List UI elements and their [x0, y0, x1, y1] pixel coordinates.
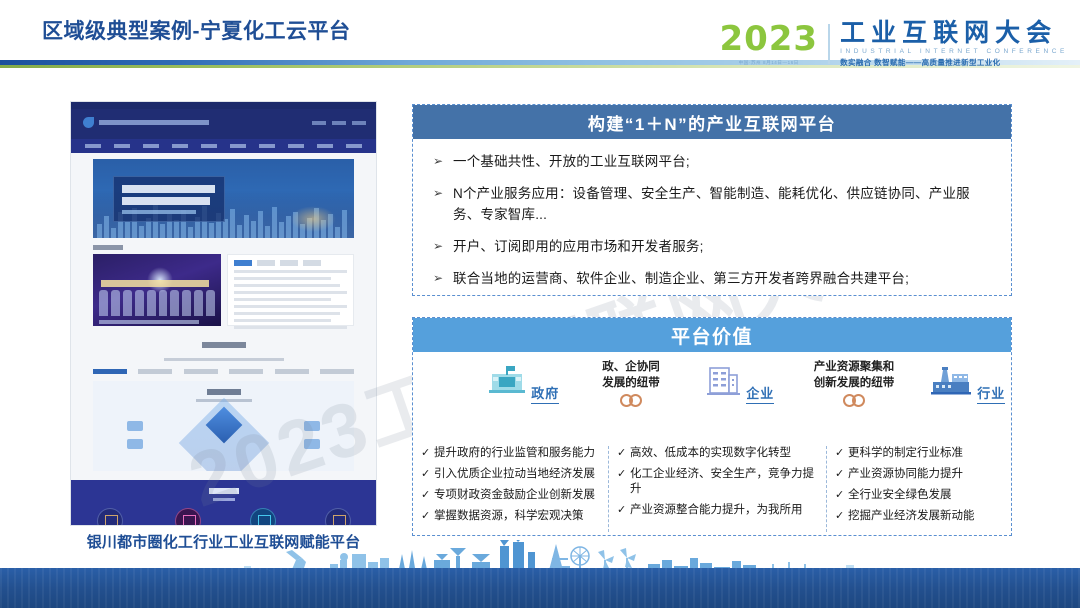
logo-slogan: 数实融合 数智赋能——高质量推进新型工业化 — [840, 57, 1068, 68]
bridge-gov-enterprise: 政、企协同 发展的纽带 — [571, 360, 691, 407]
link-icon — [571, 394, 691, 407]
benefit-text: 产业资源整合能力提升，为我所用 — [630, 503, 803, 518]
actor-name: 政府 — [531, 383, 559, 404]
bridge-line1: 政、企协同 — [571, 360, 691, 376]
list-item: ✓ 产业资源协同能力提升 — [835, 467, 1003, 482]
stat-item: 308600+ 设备上云数 — [96, 508, 126, 526]
benefit-text: 全行业安全绿色发展 — [848, 488, 952, 503]
footer-band — [0, 540, 1080, 608]
site-logo-text — [99, 120, 209, 125]
site-menu — [71, 139, 376, 153]
logo-text-block: 工业互联网大会 INDUSTRIAL INTERNET CONFERENCE 数… — [840, 20, 1068, 68]
check-icon: ✓ — [617, 446, 630, 460]
actor-industry: 行业 — [921, 364, 1013, 404]
value-actors-row: 政府 政、企协同 发展的纽带 — [413, 360, 1011, 426]
actor-name: 行业 — [977, 383, 1005, 404]
check-icon: ✓ — [617, 503, 630, 517]
stats-row: 308600+ 设备上云数 10056+ 企业数量 1570+ 上云企业 236… — [71, 508, 376, 526]
news-list — [227, 254, 354, 326]
hero-title-line1 — [122, 185, 215, 193]
logo-chinese-title: 工业互联网大会 — [840, 20, 1068, 46]
news-image-title — [101, 280, 209, 287]
actor-enterprise: 企业 — [691, 364, 787, 404]
logo-separator — [828, 24, 830, 64]
slide-root: 区域级典型案例-宁夏化工云平台 2023 中国·苏州 8月14日—16日 工业互… — [0, 0, 1080, 608]
government-icon — [487, 364, 527, 398]
news-image-people — [99, 290, 215, 316]
bullet-text: 联合当地的运营商、软件企业、制造企业、第三方开发者跨界融合共建平台; — [453, 269, 909, 289]
page-title: 区域级典型案例-宁夏化工云平台 — [42, 15, 351, 45]
benefit-text: 化工企业经济、安全生产，竞争力提升 — [630, 467, 818, 497]
benefit-column-enterprise: ✓ 高效、低成本的实现数字化转型 ✓ 化工企业经济、安全生产，竞争力提升 ✓ 产… — [609, 446, 827, 532]
actor-name: 企业 — [746, 383, 774, 404]
check-icon: ✓ — [835, 488, 848, 502]
benefit-column-industry: ✓ 更科学的制定行业标准 ✓ 产业资源协同能力提升 ✓ 全行业安全绿色发展 ✓ … — [827, 446, 1011, 532]
services-band-title — [202, 342, 246, 348]
list-item: ✓ 全行业安全绿色发展 — [835, 488, 1003, 503]
diagram-node — [304, 439, 320, 449]
benefit-text: 更科学的制定行业标准 — [848, 446, 963, 461]
hero-light-glow — [290, 206, 336, 232]
list-item: ➢ 联合当地的运营商、软件企业、制造企业、第三方开发者跨界融合共建平台; — [433, 269, 993, 289]
bridge-enterprise-industry: 产业资源聚集和 创新发展的纽带 — [787, 360, 921, 407]
benefit-text: 引入优质企业拉动当地经济发展 — [434, 467, 595, 482]
check-icon: ✓ — [421, 488, 434, 502]
enterprise-icon — [704, 364, 742, 398]
site-navbar — [71, 109, 376, 139]
news-feature-image — [93, 254, 221, 326]
list-item: ➢ N个产业服务应用：设备管理、安全生产、智能制造、能耗优化、供应链协同、产业服… — [433, 184, 993, 225]
conference-logo: 2023 中国·苏州 8月14日—16日 工业互联网大会 INDUSTRIAL … — [719, 20, 1068, 68]
list-item: ✓ 专项财政资金鼓励企业创新发展 — [421, 488, 600, 503]
check-icon: ✓ — [835, 467, 848, 481]
value-panel-title: 平台价值 — [413, 318, 1011, 352]
benefit-text: 提升政府的行业监管和服务能力 — [434, 446, 595, 461]
bullet-arrow-icon: ➢ — [433, 237, 453, 254]
news-tabs — [234, 260, 347, 266]
hero-subtitle-line — [122, 210, 196, 214]
industry-icon — [929, 364, 973, 398]
list-item: ✓ 更科学的制定行业标准 — [835, 446, 1003, 461]
stat-item: 10056+ 企业数量 — [175, 508, 201, 526]
check-icon: ✓ — [421, 467, 434, 481]
benefit-text: 挖掘产业经济发展新动能 — [848, 509, 975, 524]
stats-subtitle — [213, 498, 235, 501]
benefit-text: 掌握数据资源，科学宏观决策 — [434, 509, 584, 524]
hero-title-line2 — [122, 197, 210, 205]
list-item: ✓ 高效、低成本的实现数字化转型 — [617, 446, 818, 461]
bridge-line1: 产业资源聚集和 — [787, 360, 921, 376]
bullet-text: 开户、订阅即用的应用市场和开发者服务; — [453, 237, 704, 257]
list-item: ➢ 开户、订阅即用的应用市场和开发者服务; — [433, 237, 993, 257]
list-item: ✓ 掌握数据资源，科学宏观决策 — [421, 509, 600, 524]
services-tabs — [93, 369, 354, 374]
benefit-text: 产业资源协同能力提升 — [848, 467, 963, 482]
logo-year-block: 2023 中国·苏州 8月14日—16日 — [719, 22, 818, 66]
cloud-icon — [250, 508, 276, 526]
diagram-title — [207, 389, 241, 395]
device-icon — [97, 508, 123, 526]
news-image-caption — [99, 320, 199, 324]
news-section-title — [93, 245, 123, 250]
bullet-arrow-icon: ➢ — [433, 269, 453, 286]
actor-government: 政府 — [475, 364, 571, 404]
value-panel: 平台价值 政府 政、企协同 发展的纽带 — [412, 317, 1012, 536]
value-benefit-columns: ✓ 提升政府的行业监管和服务能力 ✓ 引入优质企业拉动当地经济发展 ✓ 专项财政… — [413, 446, 1011, 532]
list-item: ✓ 引入优质企业拉动当地经济发展 — [421, 467, 600, 482]
check-icon: ✓ — [835, 509, 848, 523]
check-icon: ✓ — [617, 467, 630, 481]
list-item: ➢ 一个基础共性、开放的工业互联网平台; — [433, 152, 993, 172]
site-nav-actions — [312, 121, 366, 125]
platform-screenshot: 308600+ 设备上云数 10056+ 企业数量 1570+ 上云企业 236… — [70, 101, 377, 526]
hero-title-card — [113, 176, 225, 222]
site-topbar — [71, 102, 376, 109]
list-item: ✓ 提升政府的行业监管和服务能力 — [421, 446, 600, 461]
stats-section: 308600+ 设备上云数 10056+ 企业数量 1570+ 上云企业 236… — [71, 480, 376, 526]
benefit-column-government: ✓ 提升政府的行业监管和服务能力 ✓ 引入优质企业拉动当地经济发展 ✓ 专项财政… — [413, 446, 609, 532]
diagram-node — [127, 421, 143, 431]
bullet-arrow-icon: ➢ — [433, 152, 453, 169]
footer-water — [0, 568, 1080, 608]
news-section — [93, 254, 354, 326]
platform-panel-title: 构建“1＋N”的产业互联网平台 — [413, 105, 1011, 139]
check-icon: ✓ — [421, 509, 434, 523]
site-hero-banner — [93, 159, 354, 238]
bullet-arrow-icon: ➢ — [433, 184, 453, 201]
benefit-text: 专项财政资金鼓励企业创新发展 — [434, 488, 595, 503]
bridge-line2: 创新发展的纽带 — [787, 376, 921, 392]
stats-title — [209, 488, 239, 494]
link-icon — [787, 394, 921, 407]
check-icon: ✓ — [835, 446, 848, 460]
logo-year-subtitle: 中国·苏州 8月14日—16日 — [719, 60, 818, 66]
platform-panel: 构建“1＋N”的产业互联网平台 ➢ 一个基础共性、开放的工业互联网平台; ➢ N… — [412, 104, 1012, 296]
bullet-text: 一个基础共性、开放的工业互联网平台; — [453, 152, 690, 172]
stat-item: 2365+ 行业数 — [325, 508, 351, 526]
company-icon — [175, 508, 201, 526]
diagram-node — [304, 421, 320, 431]
platform-bullet-list: ➢ 一个基础共性、开放的工业互联网平台; ➢ N个产业服务应用：设备管理、安全生… — [413, 139, 1011, 289]
industry-count-icon — [325, 508, 351, 526]
check-icon: ✓ — [421, 446, 434, 460]
list-item: ✓ 产业资源整合能力提升，为我所用 — [617, 503, 818, 518]
stat-item: 1570+ 上云企业 — [250, 508, 276, 526]
services-band-subtitle — [164, 358, 284, 361]
list-item: ✓ 挖掘产业经济发展新动能 — [835, 509, 1003, 524]
diagram-node — [127, 439, 143, 449]
logo-english-title: INDUSTRIAL INTERNET CONFERENCE — [840, 48, 1068, 55]
cloud-diagram — [93, 381, 354, 471]
list-item: ✓ 化工企业经济、安全生产，竞争力提升 — [617, 467, 818, 497]
services-band — [71, 335, 376, 361]
bridge-line2: 发展的纽带 — [571, 376, 691, 392]
benefit-text: 高效、低成本的实现数字化转型 — [630, 446, 791, 461]
site-logo-icon — [83, 117, 94, 128]
bullet-text: N个产业服务应用：设备管理、安全生产、智能制造、能耗优化、供应链协同、产业服务、… — [453, 184, 993, 225]
logo-year: 2023 — [719, 22, 818, 56]
